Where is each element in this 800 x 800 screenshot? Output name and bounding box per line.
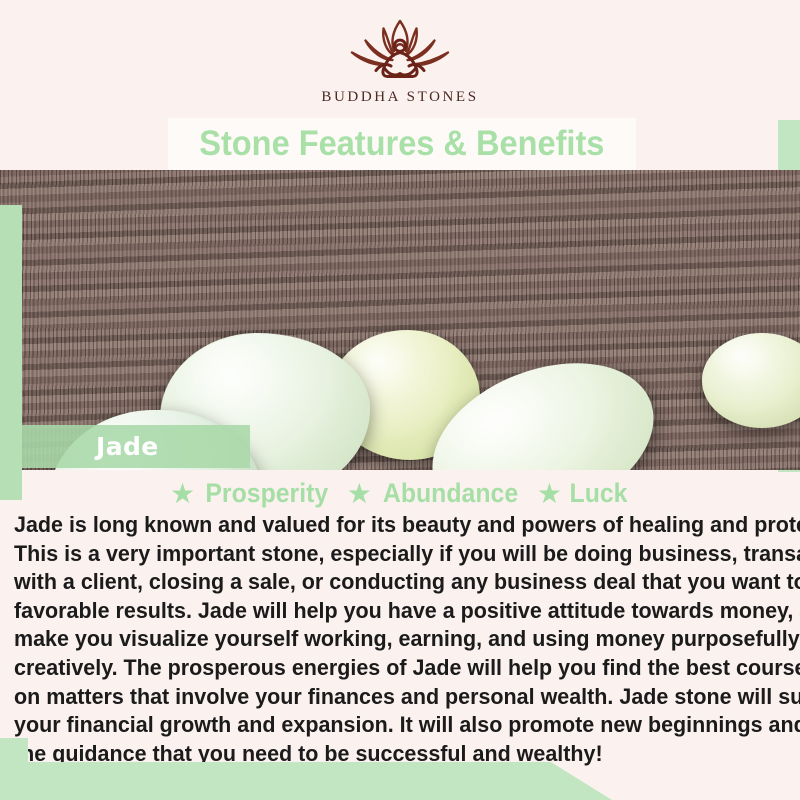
- benefit-label: Prosperity: [205, 478, 328, 509]
- brand-header: BUDDHA STONES: [0, 0, 800, 120]
- page-title: Stone Features & Benefits: [199, 124, 604, 164]
- decor-green-bottomleft: [0, 762, 612, 800]
- benefit-item: ★ Abundance: [347, 478, 524, 509]
- benefit-label: Abundance: [383, 478, 518, 509]
- description-line: your financial growth and expansion. It …: [14, 711, 755, 740]
- benefit-item: ★ Prosperity: [170, 478, 334, 509]
- benefit-item: ★ Luck: [537, 478, 630, 509]
- description-text: Jade is long known and valued for its be…: [14, 511, 790, 768]
- description-line: favorable results. Jade will help you ha…: [14, 597, 755, 626]
- description-line: creatively. The prosperous energies of J…: [14, 654, 755, 683]
- star-icon: ★: [537, 480, 562, 508]
- description-line: on matters that involve your finances an…: [14, 683, 755, 712]
- stone-name-band: Jade: [22, 425, 250, 468]
- lotus-meditation-icon: [340, 15, 460, 87]
- description-line: make you visualize yourself working, ear…: [14, 625, 755, 654]
- description-line: This is a very important stone, especial…: [14, 540, 755, 569]
- decor-green-left-strip: [0, 205, 22, 500]
- description-line: with a client, closing a sale, or conduc…: [14, 568, 755, 597]
- stone-info-poster: BUDDHA STONES Stone Features & Benefits …: [0, 0, 800, 800]
- benefits-row: ★ Prosperity ★ Abundance ★ Luck: [0, 478, 800, 509]
- stone-name-label: Jade: [96, 432, 159, 461]
- star-icon: ★: [170, 480, 195, 508]
- title-banner: Stone Features & Benefits: [168, 118, 636, 170]
- brand-name: BUDDHA STONES: [321, 89, 478, 106]
- decor-green-bottom-block: [0, 738, 28, 800]
- description-line: Jade is long known and valued for its be…: [14, 511, 755, 540]
- benefit-label: Luck: [569, 478, 627, 509]
- star-icon: ★: [347, 480, 372, 508]
